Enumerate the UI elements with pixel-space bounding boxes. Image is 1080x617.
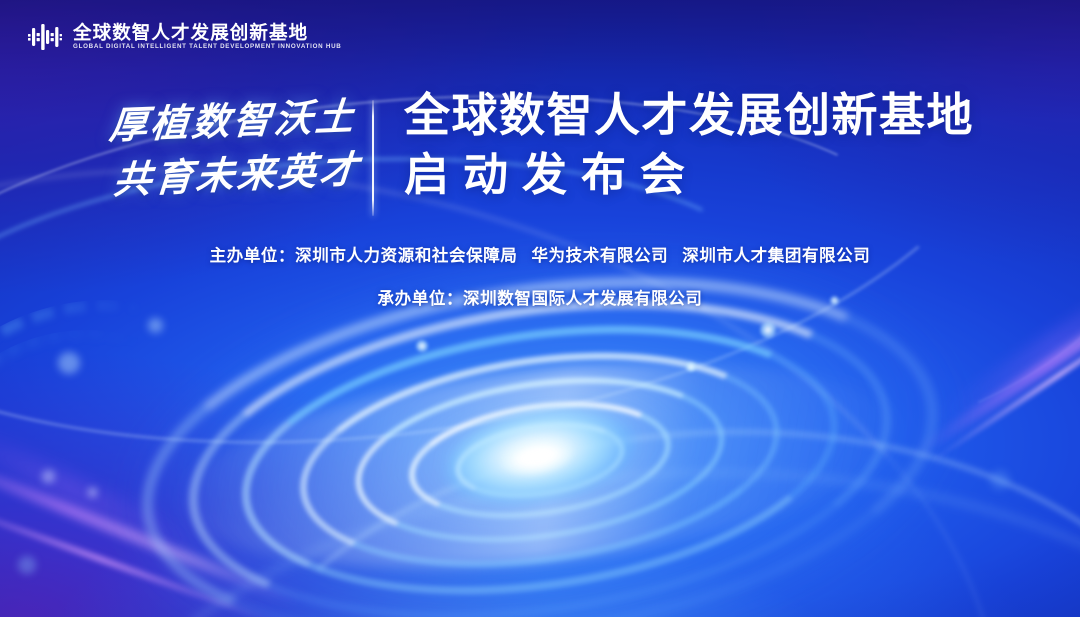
host-unit-2: 华为技术有限公司 bbox=[531, 247, 668, 265]
organizer-block: 主办单位：深圳市人力资源和社会保障局华为技术有限公司深圳市人才集团有限公司 承办… bbox=[0, 248, 1080, 307]
page-subtitle: 启动发布会 bbox=[404, 146, 974, 204]
brand-logo[interactable]: 全球数智人才发展创新基地 GLOBAL DIGITAL INTELLIGENT … bbox=[28, 22, 336, 52]
host-unit-1: 深圳市人力资源和社会保障局 bbox=[295, 247, 517, 265]
brand-logo-text: 全球数智人才发展创新基地 GLOBAL DIGITAL INTELLIGENT … bbox=[73, 23, 336, 50]
brand-name-en: GLOBAL DIGITAL INTELLIGENT TALENT DEVELO… bbox=[73, 44, 342, 51]
equalizer-bars-logo-mark bbox=[28, 22, 62, 52]
host-units-line: 主办单位：深圳市人力资源和社会保障局华为技术有限公司深圳市人才集团有限公司 bbox=[0, 248, 1080, 265]
organizer-label: 承办单位： bbox=[378, 290, 464, 308]
title-group: 全球数智人才发展创新基地 启动发布会 bbox=[404, 88, 974, 204]
organizer-unit-1: 深圳数智国际人才发展有限公司 bbox=[463, 290, 702, 308]
bokeh-dot bbox=[148, 318, 163, 333]
host-unit-3: 深圳市人才集团有限公司 bbox=[682, 247, 870, 265]
headline-divider bbox=[372, 100, 374, 216]
bokeh-dot bbox=[18, 556, 36, 574]
bokeh-dot bbox=[990, 470, 1010, 490]
page-title: 全球数智人才发展创新基地 bbox=[404, 88, 974, 142]
bokeh-dot bbox=[58, 352, 80, 374]
host-label: 主办单位： bbox=[210, 247, 296, 265]
event-poster: 全球数智人才发展创新基地 GLOBAL DIGITAL INTELLIGENT … bbox=[0, 0, 1080, 617]
headline-block: 厚植数智沃土 共育未来英才 全球数智人才发展创新基地 启动发布会 bbox=[0, 88, 1080, 223]
organizer-units-line: 承办单位：深圳数智国际人才发展有限公司 bbox=[0, 291, 1080, 308]
calligraphy-slogan: 厚植数智沃土 共育未来英才 bbox=[108, 94, 358, 202]
brand-name-cn: 全球数智人才发展创新基地 bbox=[73, 23, 336, 42]
slogan-line-2: 共育未来英才 bbox=[109, 142, 364, 207]
